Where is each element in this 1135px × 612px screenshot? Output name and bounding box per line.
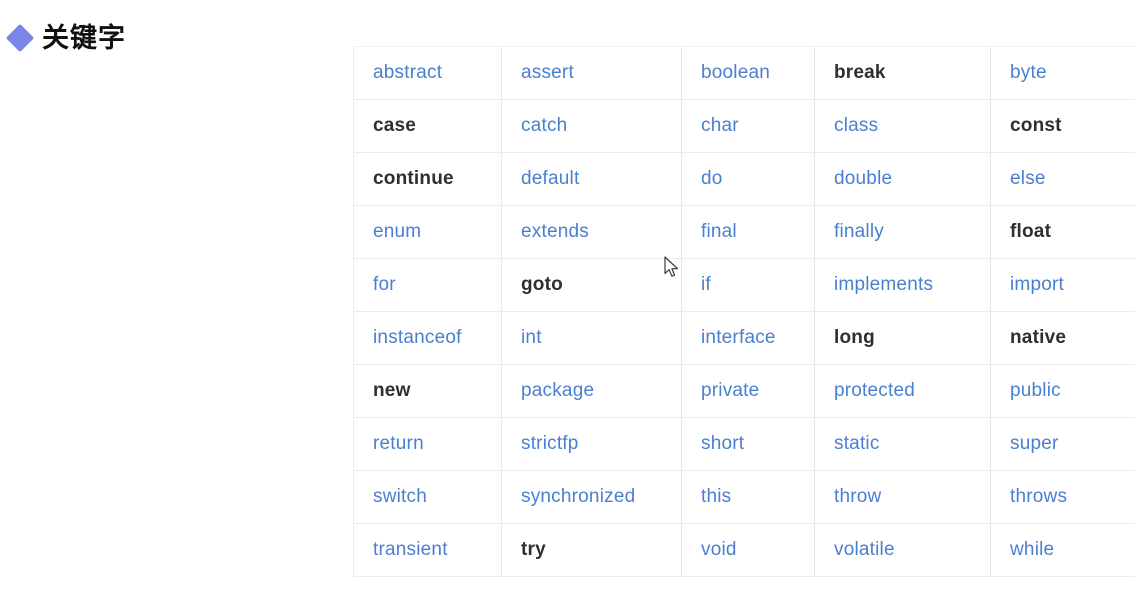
keyword-cell: break: [815, 47, 991, 100]
keyword-cell[interactable]: return: [354, 418, 502, 471]
diamond-bullet-icon: [6, 24, 34, 52]
keyword-cell: new: [354, 365, 502, 418]
keyword-cell[interactable]: char: [682, 100, 815, 153]
keyword-cell: native: [991, 312, 1135, 365]
table-row: abstractassertbooleanbreakbyte: [354, 47, 1135, 100]
table-row: continuedefaultdodoubleelse: [354, 153, 1135, 206]
keyword-cell: goto: [502, 259, 682, 312]
keyword-cell[interactable]: short: [682, 418, 815, 471]
keyword-cell[interactable]: for: [354, 259, 502, 312]
keyword-cell[interactable]: final: [682, 206, 815, 259]
keyword-cell[interactable]: private: [682, 365, 815, 418]
keyword-table-container: abstractassertbooleanbreakbytecasecatchc…: [353, 46, 1135, 577]
keyword-cell[interactable]: switch: [354, 471, 502, 524]
keyword-cell: long: [815, 312, 991, 365]
keyword-cell[interactable]: synchronized: [502, 471, 682, 524]
page-heading: 关键字: [10, 18, 126, 58]
keyword-cell: continue: [354, 153, 502, 206]
keyword-cell[interactable]: class: [815, 100, 991, 153]
keyword-cell: float: [991, 206, 1135, 259]
keyword-cell[interactable]: void: [682, 524, 815, 577]
keyword-cell[interactable]: byte: [991, 47, 1135, 100]
keyword-cell[interactable]: throws: [991, 471, 1135, 524]
keyword-cell[interactable]: transient: [354, 524, 502, 577]
keyword-cell[interactable]: static: [815, 418, 991, 471]
java-keyword-table: abstractassertbooleanbreakbytecasecatchc…: [353, 46, 1135, 577]
table-row: newpackageprivateprotectedpublic: [354, 365, 1135, 418]
keyword-cell[interactable]: catch: [502, 100, 682, 153]
keyword-cell[interactable]: instanceof: [354, 312, 502, 365]
keyword-cell[interactable]: import: [991, 259, 1135, 312]
table-row: forgotoifimplementsimport: [354, 259, 1135, 312]
table-row: enumextendsfinalfinallyfloat: [354, 206, 1135, 259]
keyword-cell[interactable]: package: [502, 365, 682, 418]
keyword-cell: const: [991, 100, 1135, 153]
keyword-cell[interactable]: this: [682, 471, 815, 524]
keyword-cell[interactable]: double: [815, 153, 991, 206]
keyword-cell: try: [502, 524, 682, 577]
keyword-cell[interactable]: protected: [815, 365, 991, 418]
keyword-cell[interactable]: abstract: [354, 47, 502, 100]
table-row: casecatchcharclassconst: [354, 100, 1135, 153]
keyword-cell[interactable]: super: [991, 418, 1135, 471]
keyword-cell[interactable]: volatile: [815, 524, 991, 577]
keyword-cell[interactable]: if: [682, 259, 815, 312]
page-title: 关键字: [42, 25, 126, 52]
table-row: switchsynchronizedthisthrowthrows: [354, 471, 1135, 524]
keyword-cell[interactable]: interface: [682, 312, 815, 365]
keyword-cell[interactable]: throw: [815, 471, 991, 524]
keyword-cell[interactable]: assert: [502, 47, 682, 100]
keyword-cell[interactable]: implements: [815, 259, 991, 312]
keyword-cell[interactable]: while: [991, 524, 1135, 577]
keyword-cell[interactable]: finally: [815, 206, 991, 259]
keyword-cell[interactable]: do: [682, 153, 815, 206]
keyword-cell[interactable]: boolean: [682, 47, 815, 100]
keyword-cell[interactable]: strictfp: [502, 418, 682, 471]
keyword-cell[interactable]: extends: [502, 206, 682, 259]
table-row: instanceofintinterfacelongnative: [354, 312, 1135, 365]
keyword-cell[interactable]: else: [991, 153, 1135, 206]
table-row: transienttryvoidvolatilewhile: [354, 524, 1135, 577]
keyword-cell[interactable]: default: [502, 153, 682, 206]
keyword-cell[interactable]: public: [991, 365, 1135, 418]
table-row: returnstrictfpshortstaticsuper: [354, 418, 1135, 471]
keyword-cell[interactable]: int: [502, 312, 682, 365]
keyword-cell: case: [354, 100, 502, 153]
keyword-cell[interactable]: enum: [354, 206, 502, 259]
